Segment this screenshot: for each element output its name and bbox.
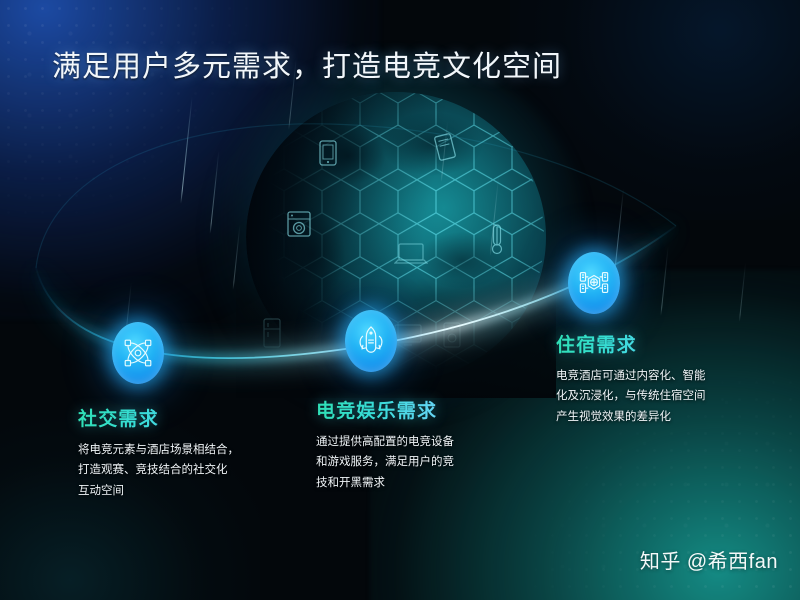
esports-device-refresh-icon bbox=[356, 325, 386, 357]
watermark: 知乎 @希西fan bbox=[640, 545, 778, 574]
card-social: 社交需求 将电竞元素与酒店场景相结合， 打造观赛、竞技结合的社交化 互动空间 bbox=[78, 404, 293, 501]
card-heading: 电竞娱乐需求 bbox=[316, 396, 516, 423]
light-streaks bbox=[0, 0, 800, 600]
node-badge-social[interactable] bbox=[112, 322, 164, 384]
node-badge-accommodation[interactable] bbox=[568, 252, 620, 314]
social-network-icon bbox=[123, 338, 153, 368]
card-esports-entertainment: 电竞娱乐需求 通过提供高配置的电竞设备 和游戏服务，满足用户的竞 技和开黑需求 bbox=[316, 396, 516, 493]
card-body: 将电竞元素与酒店场景相结合， 打造观赛、竞技结合的社交化 互动空间 bbox=[78, 440, 293, 501]
card-body: 电竞酒店可通过内容化、智能 化及沉浸化，与传统住宿空间 产生视觉效果的差异化 bbox=[556, 366, 756, 427]
presentation-slide: 满足用户多元需求，打造电竞文化空间 社交需求 将电竞元素与酒店场景相结合， 打造… bbox=[0, 0, 800, 600]
slide-title: 满足用户多元需求，打造电竞文化空间 bbox=[52, 43, 562, 85]
card-heading: 住宿需求 bbox=[556, 330, 756, 357]
node-badge-esports[interactable] bbox=[345, 310, 397, 372]
card-body: 通过提供高配置的电竞设备 和游戏服务，满足用户的竞 技和开黑需求 bbox=[316, 432, 516, 493]
card-heading: 社交需求 bbox=[78, 404, 293, 431]
smart-chip-room-icon bbox=[578, 267, 610, 299]
card-accommodation: 住宿需求 电竞酒店可通过内容化、智能 化及沉浸化，与传统住宿空间 产生视觉效果的… bbox=[556, 330, 756, 427]
